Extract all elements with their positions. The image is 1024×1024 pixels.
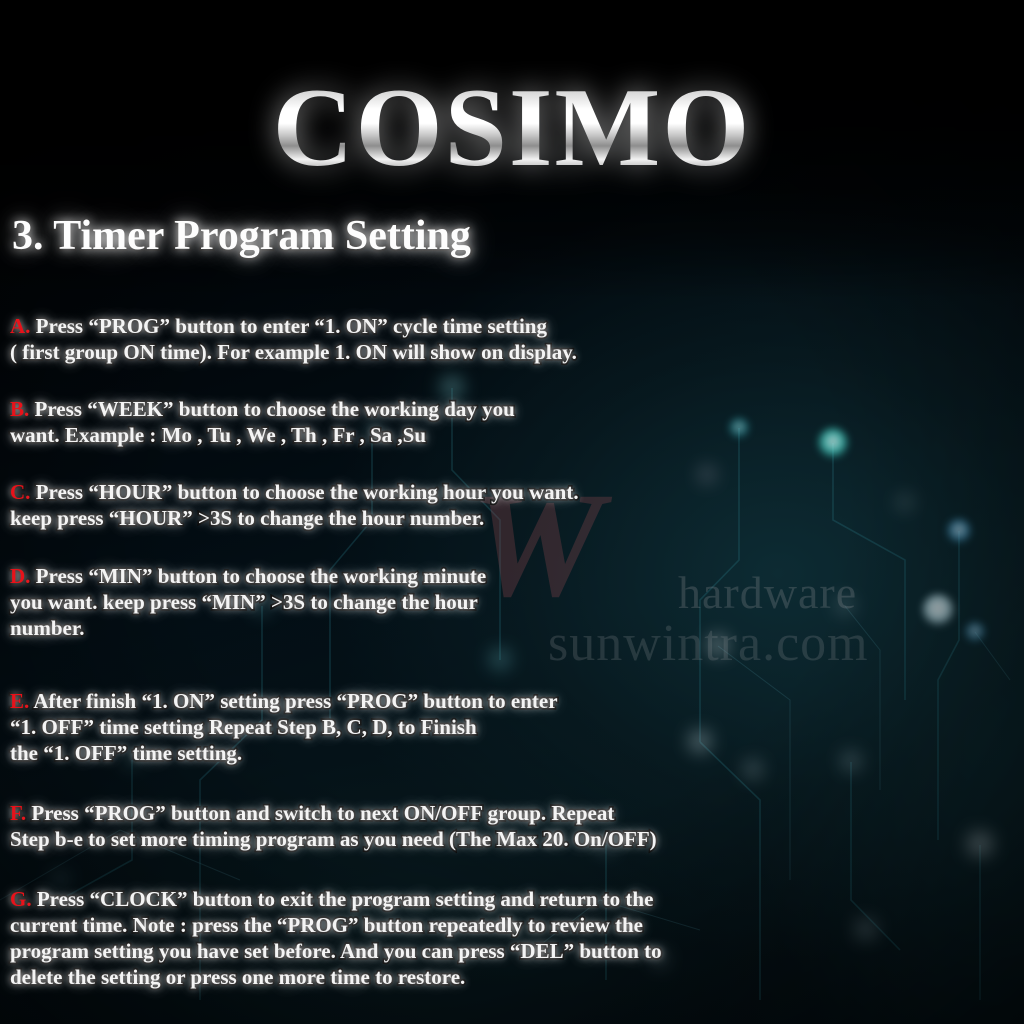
step-label: B. [10, 397, 29, 421]
step-line: number. [10, 615, 486, 641]
step-line: “1. OFF” time setting Repeat Step B, C, … [10, 714, 558, 740]
step-line: E. After finish “1. ON” setting press “P… [10, 688, 558, 714]
poster-page: W hardware sunwintra.com COSIMO COSIMO C… [0, 0, 1024, 1024]
instruction-step: G. Press “CLOCK” button to exit the prog… [10, 886, 662, 990]
step-line: D. Press “MIN” button to choose the work… [10, 563, 486, 589]
instruction-step: E. After finish “1. ON” setting press “P… [10, 688, 558, 766]
step-line: A. Press “PROG” button to enter “1. ON” … [10, 313, 577, 339]
instruction-steps-list: A. Press “PROG” button to enter “1. ON” … [0, 0, 1024, 1024]
step-line: ( first group ON time). For example 1. O… [10, 339, 577, 365]
step-label: E. [10, 689, 29, 713]
step-label: G. [10, 887, 32, 911]
step-line: you want. keep press “MIN” >3S to change… [10, 589, 486, 615]
step-label: A. [10, 314, 30, 338]
step-label: C. [10, 480, 30, 504]
instruction-step: F. Press “PROG” button and switch to nex… [10, 800, 657, 852]
step-line: keep press “HOUR” >3S to change the hour… [10, 505, 579, 531]
step-line: want. Example : Mo , Tu , We , Th , Fr ,… [10, 422, 515, 448]
instruction-step: B. Press “WEEK” button to choose the wor… [10, 396, 515, 448]
step-label: D. [10, 564, 30, 588]
step-line: program setting you have set before. And… [10, 938, 662, 964]
step-line: F. Press “PROG” button and switch to nex… [10, 800, 657, 826]
step-line: C. Press “HOUR” button to choose the wor… [10, 479, 579, 505]
step-line: delete the setting or press one more tim… [10, 964, 662, 990]
step-line: Step b-e to set more timing program as y… [10, 826, 657, 852]
step-line: the “1. OFF” time setting. [10, 740, 558, 766]
instruction-step: A. Press “PROG” button to enter “1. ON” … [10, 313, 577, 365]
step-line: G. Press “CLOCK” button to exit the prog… [10, 886, 662, 912]
instruction-step: C. Press “HOUR” button to choose the wor… [10, 479, 579, 531]
step-line: B. Press “WEEK” button to choose the wor… [10, 396, 515, 422]
step-label: F. [10, 801, 26, 825]
instruction-step: D. Press “MIN” button to choose the work… [10, 563, 486, 641]
step-line: current time. Note : press the “PROG” bu… [10, 912, 662, 938]
